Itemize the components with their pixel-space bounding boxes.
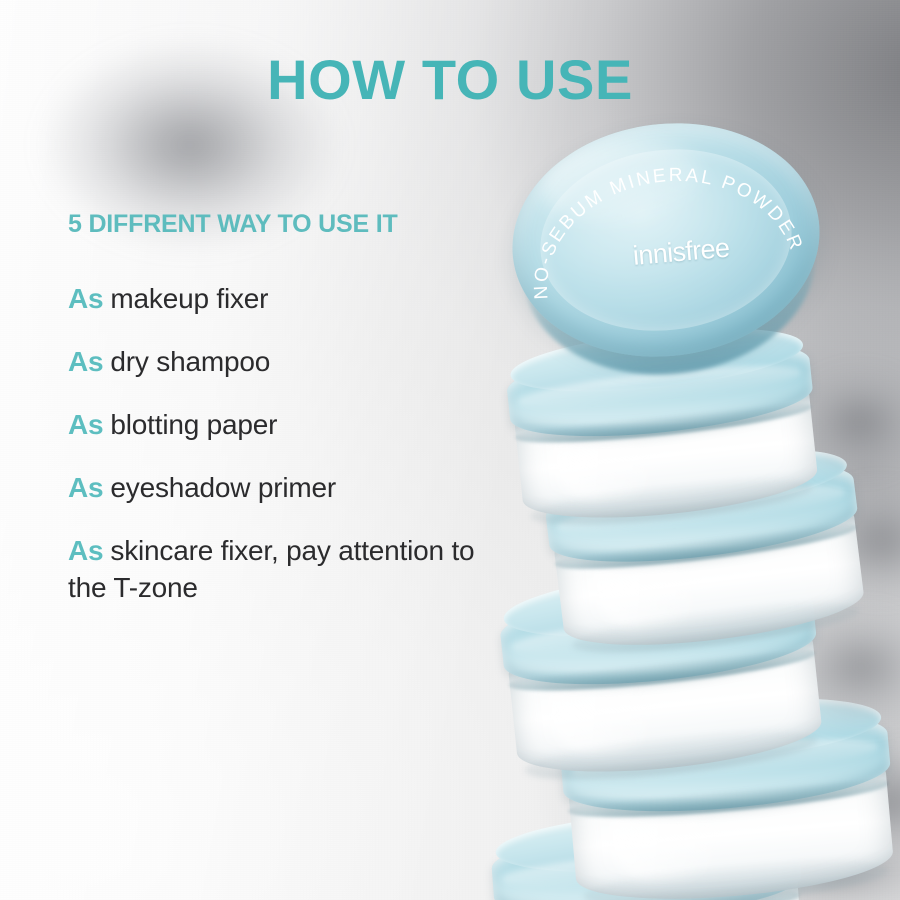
usage-item-1: Asmakeup fixer: [68, 281, 488, 318]
usage-item-5-prefix: As: [68, 535, 103, 566]
usage-item-4: Aseyeshadow primer: [68, 470, 488, 507]
usage-item-3: Asblotting paper: [68, 407, 488, 444]
page-title: HOW TO USE: [0, 52, 900, 108]
stack-bottom-fade: [470, 854, 900, 900]
usage-item-5: Asskincare fixer, pay attention to the T…: [68, 533, 488, 607]
usage-item-1-prefix: As: [68, 283, 103, 314]
usage-item-3-prefix: As: [68, 409, 103, 440]
infographic-canvas: NO-SEBUM MINERAL POWDER innisfree HOW TO…: [0, 0, 900, 900]
usage-item-3-text: blotting paper: [110, 409, 277, 440]
usage-list: Asmakeup fixer Asdry shampoo Asblotting …: [68, 281, 488, 607]
usage-item-2: Asdry shampoo: [68, 344, 488, 381]
usage-subheading: 5 DIFFRENT WAY TO USE IT: [68, 212, 488, 237]
usage-copy-block: 5 DIFFRENT WAY TO USE IT Asmakeup fixer …: [68, 212, 488, 607]
usage-item-2-prefix: As: [68, 346, 103, 377]
usage-item-1-text: makeup fixer: [110, 283, 268, 314]
usage-item-4-text: eyeshadow primer: [110, 472, 336, 503]
usage-item-2-text: dry shampoo: [110, 346, 270, 377]
usage-item-4-prefix: As: [68, 472, 103, 503]
usage-item-5-text: skincare fixer, pay attention to the T-z…: [68, 535, 474, 603]
